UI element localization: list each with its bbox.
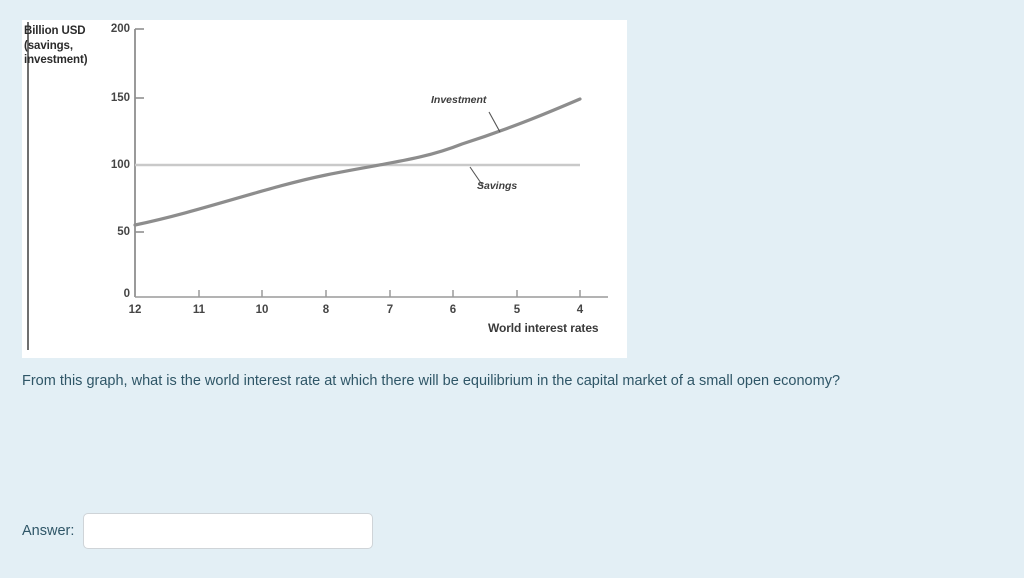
question-text: From this graph, what is the world inter…: [22, 371, 992, 391]
investment-leader-line: [489, 112, 500, 132]
savings-annotation-label: Savings: [477, 180, 517, 192]
investment-annotation-label: Investment: [431, 94, 486, 106]
answer-label: Answer:: [22, 523, 74, 539]
x-axis-title: World interest rates: [488, 321, 598, 335]
investment-curve: [135, 99, 580, 225]
plot-area: [22, 20, 627, 358]
figure-panel: Billion USD (savings, investment) 200 15…: [22, 20, 627, 358]
answer-row: Answer:: [22, 513, 373, 549]
savings-investment-chart: Billion USD (savings, investment) 200 15…: [22, 20, 627, 358]
answer-input[interactable]: [83, 513, 373, 549]
